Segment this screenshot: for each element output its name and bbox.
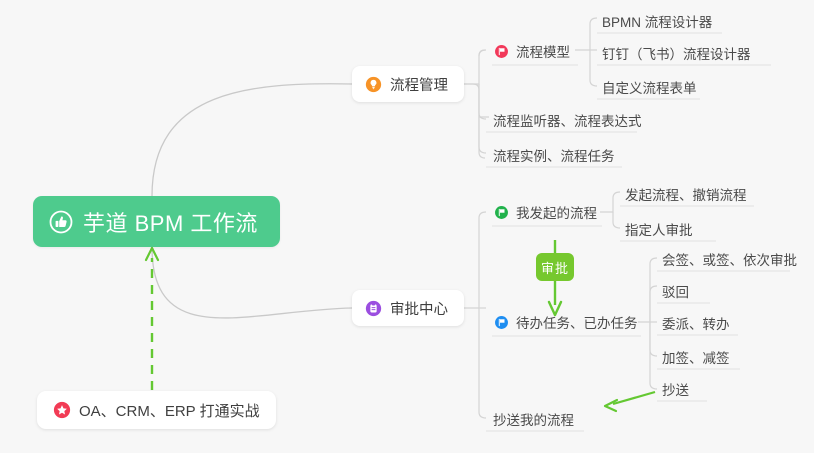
link-started-to-leaf1 <box>600 192 620 212</box>
branch-label-process-management: 流程管理 <box>390 74 448 95</box>
clipboard-icon <box>365 300 382 317</box>
link-pm-to-listener <box>479 84 486 119</box>
leaf-node-bpmn-designer[interactable]: BPMN 流程设计器 <box>598 8 718 33</box>
flag-icon-green <box>494 205 509 220</box>
root-node[interactable]: 芋道 BPM 工作流 <box>33 196 280 247</box>
annotation-badge-approve: 审批 <box>536 253 574 281</box>
bottom-note-node[interactable]: OA、CRM、ERP 打通实战 <box>37 391 276 429</box>
leaf-node-add-remove-sign[interactable]: 加签、减签 <box>658 344 736 369</box>
link-todo-to-leaf5 <box>650 322 657 389</box>
sub-label-process-model: 流程模型 <box>516 41 570 61</box>
flag-icon-blue <box>494 315 509 330</box>
star-icon <box>53 401 71 419</box>
root-label: 芋道 BPM 工作流 <box>83 206 258 238</box>
leaf-node-reject[interactable]: 驳回 <box>658 278 695 303</box>
bottom-note-label: OA、CRM、ERP 打通实战 <box>79 400 260 421</box>
sub-node-my-started-process[interactable]: 我发起的流程 <box>492 199 601 225</box>
leaf-node-process-listener[interactable]: 流程监听器、流程表达式 <box>489 107 648 132</box>
sub-node-todo-done-tasks[interactable]: 待办任务、已办任务 <box>492 309 642 335</box>
link-started-to-leaf2 <box>613 212 620 228</box>
link-root-to-process-management <box>152 84 352 196</box>
sub-label-my-started-process: 我发起的流程 <box>516 202 597 222</box>
leaf-node-start-cancel-process[interactable]: 发起流程、撤销流程 <box>621 181 753 206</box>
branch-node-approval-center[interactable]: 审批中心 <box>352 290 464 326</box>
lightbulb-icon <box>365 76 382 93</box>
arrow-cc-to-cc-my-process <box>605 392 655 411</box>
leaf-node-cc-my-process[interactable]: 抄送我的流程 <box>489 406 580 431</box>
link-pm-trunk <box>463 50 489 158</box>
branch-label-approval-center: 审批中心 <box>390 298 448 319</box>
link-pm-to-model <box>463 50 486 84</box>
leaf-node-delegate-transfer[interactable]: 委派、转办 <box>658 310 736 335</box>
sub-node-process-model[interactable]: 流程模型 <box>492 38 574 64</box>
leaf-node-process-instance[interactable]: 流程实例、流程任务 <box>489 142 621 167</box>
leaf-node-assigned-approval[interactable]: 指定人审批 <box>621 216 699 241</box>
thumbs-up-icon <box>49 210 73 234</box>
link-root-to-approval-center <box>152 247 352 318</box>
leaf-node-custom-form[interactable]: 自定义流程表单 <box>598 74 703 99</box>
link-todo-to-leaf2 <box>650 286 657 322</box>
link-todo-to-leaf4 <box>650 322 657 356</box>
leaf-node-countersign[interactable]: 会签、或签、依次审批 <box>658 246 803 271</box>
arrow-bottom-note-to-root <box>146 248 158 390</box>
mindmap-canvas: 芋道 BPM 工作流 流程管理 流程模型 BPMN 流程设计器 钉钉（飞书）流程… <box>0 0 814 453</box>
flag-icon-red <box>494 44 509 59</box>
link-ac-to-started <box>463 212 486 308</box>
sub-label-todo-done-tasks: 待办任务、已办任务 <box>516 312 638 332</box>
link-model-to-leaf1 <box>575 18 597 50</box>
link-ac-to-cc <box>479 308 486 418</box>
link-pm-to-instance <box>479 84 486 153</box>
leaf-node-cc[interactable]: 抄送 <box>658 376 695 401</box>
link-model-to-leaf3 <box>590 50 597 86</box>
branch-node-process-management[interactable]: 流程管理 <box>352 66 464 102</box>
leaf-node-dingtalk-designer[interactable]: 钉钉（飞书）流程设计器 <box>598 40 757 65</box>
